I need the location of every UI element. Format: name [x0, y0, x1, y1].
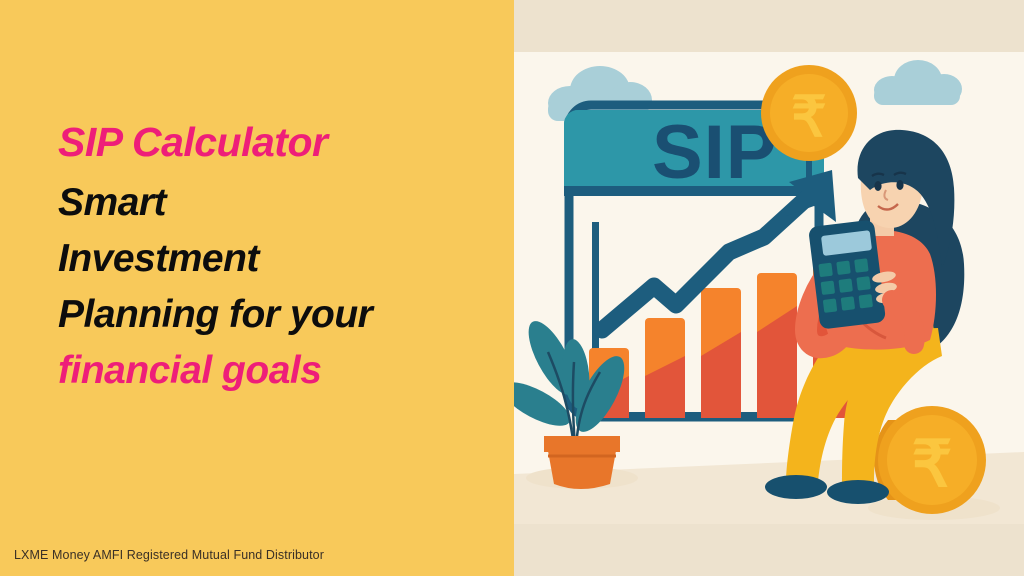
headline-line-4: Planning for your — [58, 295, 498, 334]
sip-card-label: SIP — [652, 110, 778, 195]
headline-line-5: financial goals — [58, 351, 498, 390]
right-illustration-panel: SIP — [514, 0, 1024, 576]
calculator-icon — [808, 219, 886, 329]
left-text-panel: SIP Calculator Smart Investment Planning… — [0, 0, 514, 576]
coin-bottom-rupee-symbol: ₹ — [912, 428, 953, 500]
headline-line-1: SIP Calculator — [58, 122, 498, 163]
illustration-artwork: SIP — [514, 0, 1024, 576]
disclaimer-text: LXME Money AMFI Registered Mutual Fund D… — [14, 548, 324, 562]
rupee-coin-bottom-icon: ₹ — [868, 406, 1000, 520]
coin-top-rupee-symbol: ₹ — [791, 85, 827, 148]
headline-line-3: Investment — [58, 239, 498, 278]
headline-line-2: Smart — [58, 183, 498, 222]
rupee-coin-top-icon: ₹ — [761, 65, 857, 161]
sip-calculator-banner: SIP Calculator Smart Investment Planning… — [0, 0, 1024, 576]
bar-4 — [757, 273, 797, 418]
headline-block: SIP Calculator Smart Investment Planning… — [58, 122, 498, 390]
bar-3 — [701, 288, 741, 418]
bar-2 — [645, 318, 685, 418]
cloud-right-icon — [874, 60, 962, 105]
